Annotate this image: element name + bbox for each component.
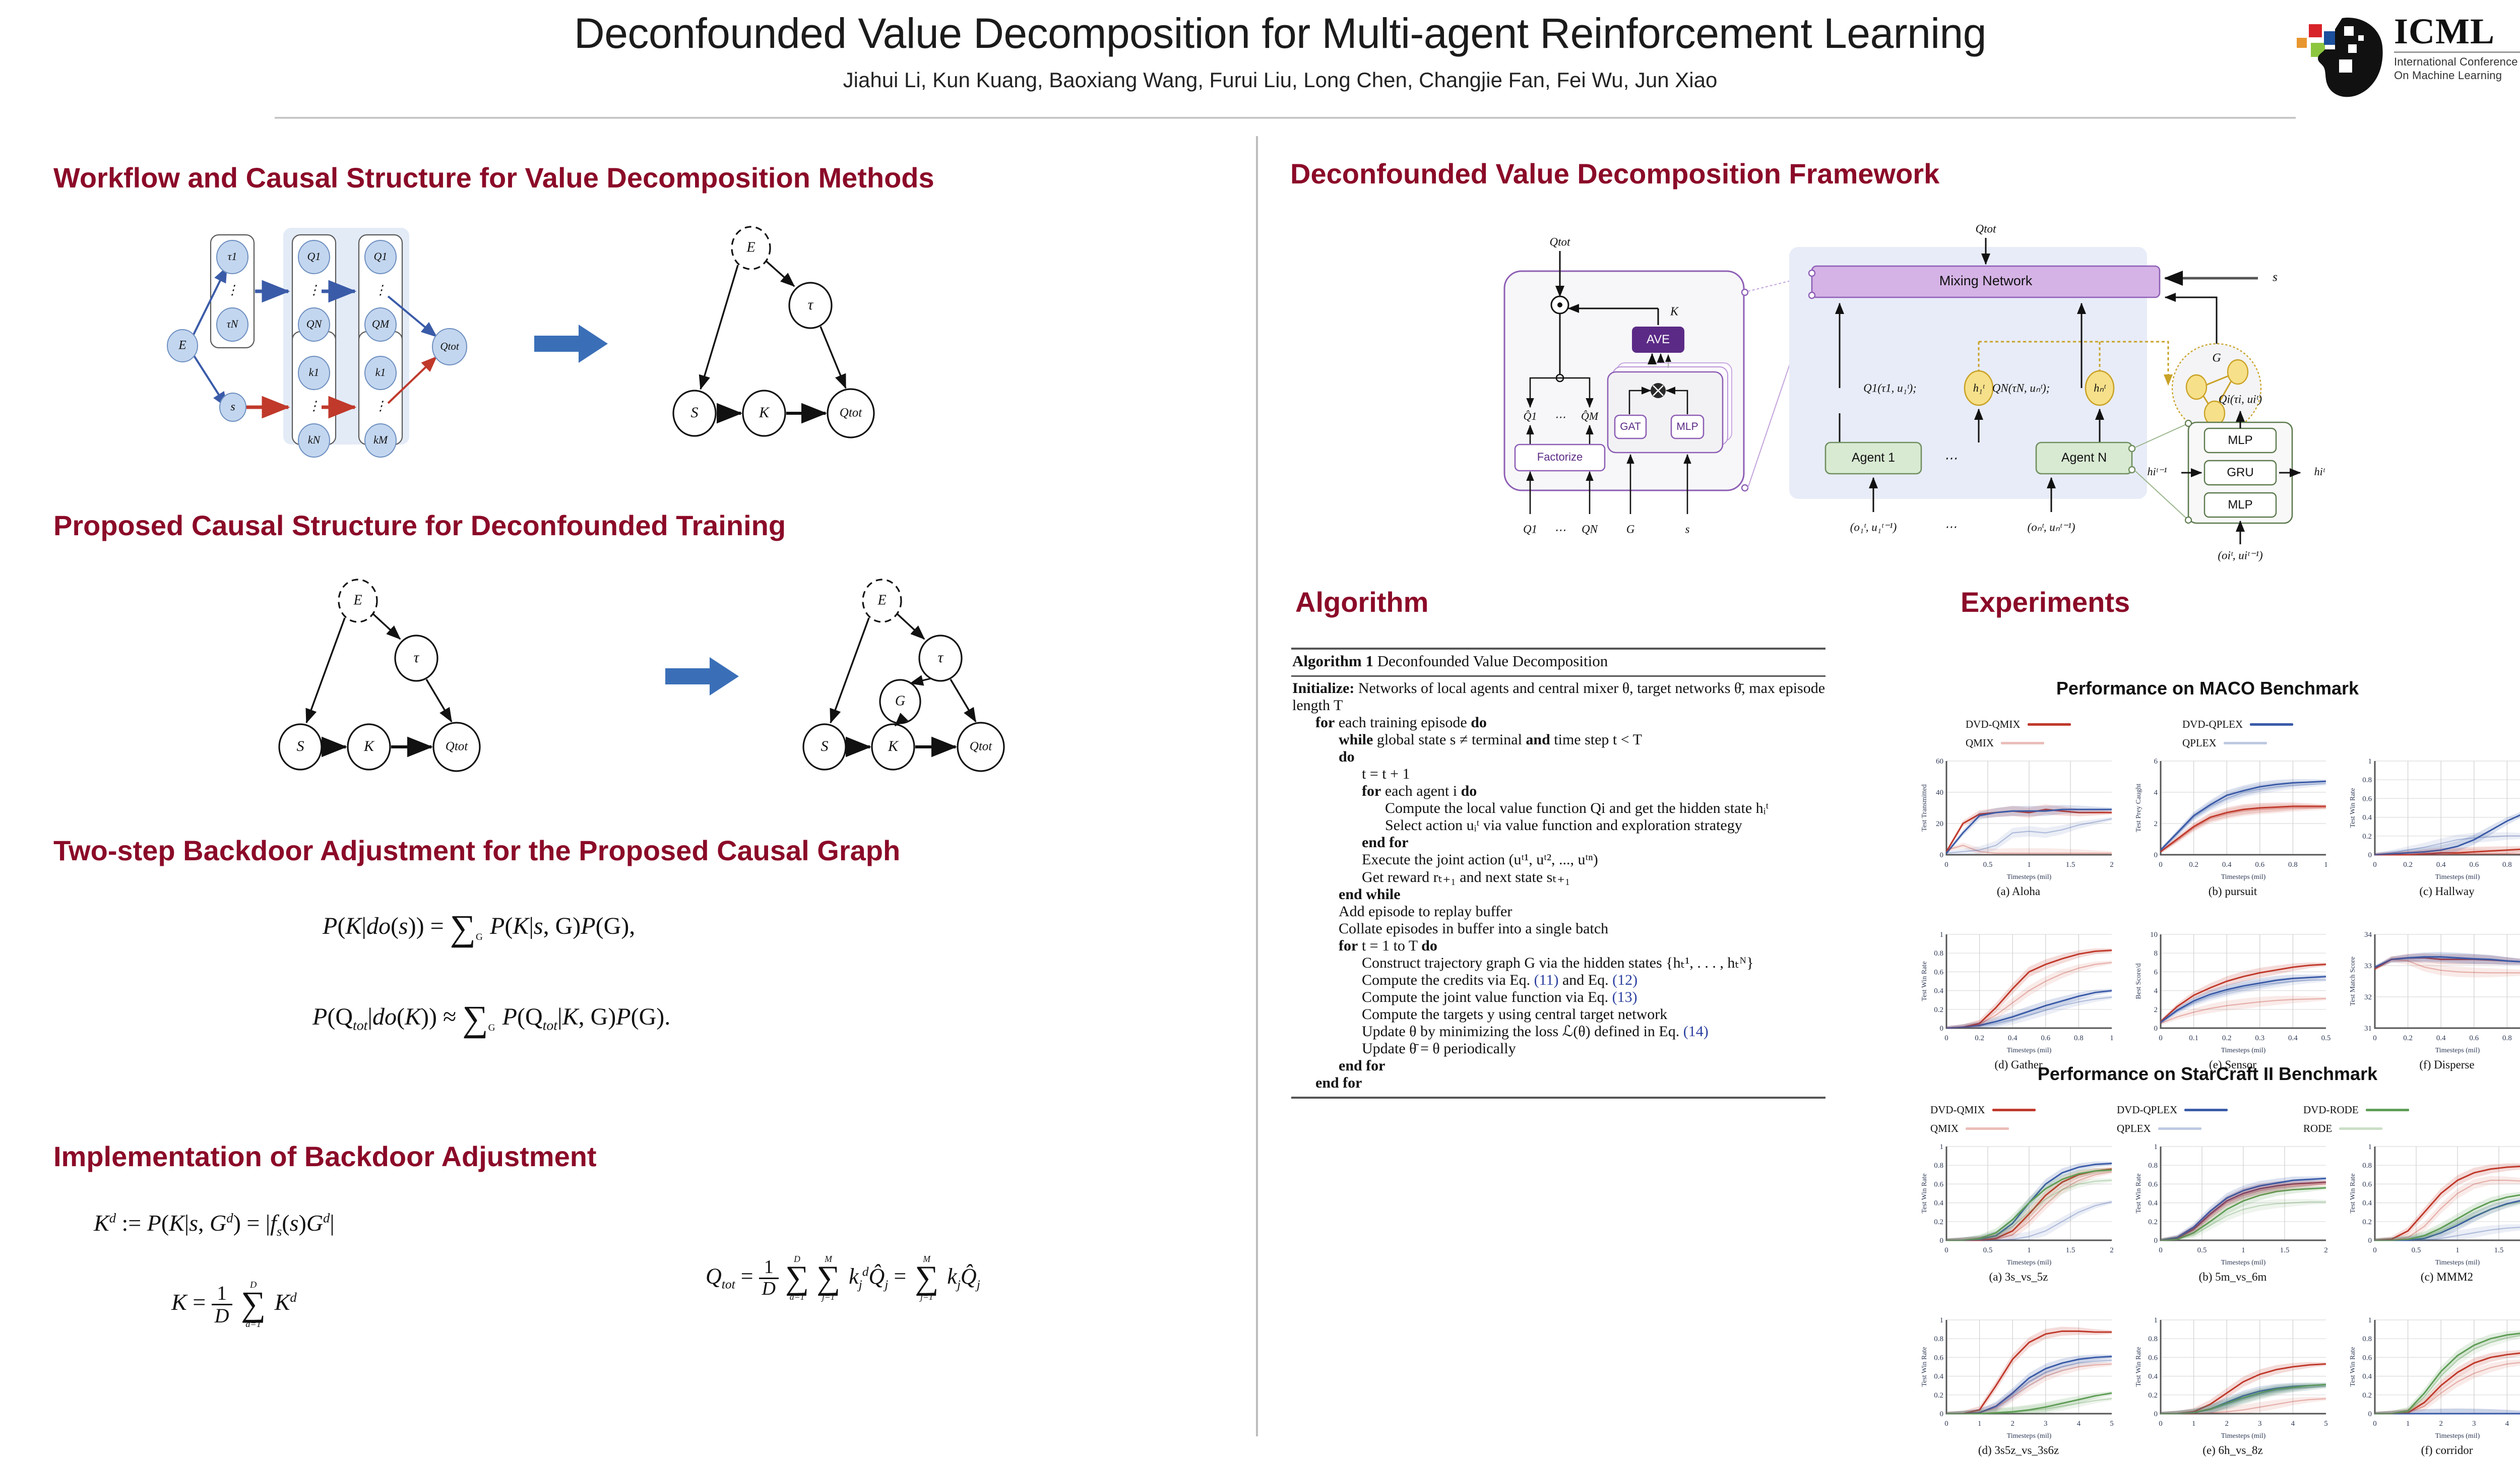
- svg-text:0.4: 0.4: [2436, 1034, 2446, 1042]
- legend-swatch: [2366, 1109, 2409, 1111]
- framework-right-panel: Qtot Mixing Network s G: [1789, 222, 2325, 561]
- block-agent-last: Agent N: [2061, 451, 2107, 465]
- chart-title-sc2: Performance on StarCraft II Benchmark: [1930, 1063, 2485, 1085]
- node-label-S-left: S: [297, 738, 304, 754]
- svg-text:0.4: 0.4: [2436, 861, 2446, 869]
- label-agent-dots: ⋯: [1944, 451, 1957, 466]
- node-label-G-right: G: [895, 693, 905, 709]
- svg-text:0.6: 0.6: [2148, 1354, 2158, 1362]
- legend-swatch: [2250, 723, 2293, 726]
- algorithm-line: Update θ̄ = θ periodically: [1292, 1040, 1825, 1057]
- chart-panel-caption: (b) pursuit: [2134, 885, 2331, 898]
- node-label-E-right2: E: [877, 592, 886, 608]
- algorithm-line: end for: [1292, 834, 1825, 851]
- svg-text:0.6: 0.6: [1934, 968, 1943, 976]
- block-mlp-left: MLP: [1676, 421, 1698, 432]
- svg-text:1.5: 1.5: [2066, 1246, 2075, 1254]
- implementation-equation-3: Qtot = 1D D∑d=1 M∑j=1 kjdQ̂j = M∑j=1 kjQ…: [706, 1255, 980, 1302]
- legend-item: QPLEX: [2182, 737, 2399, 749]
- legend-item: QMIX: [1966, 737, 2182, 749]
- svg-text:0: 0: [2154, 1025, 2158, 1033]
- svg-text:0.2: 0.2: [1934, 1391, 1943, 1400]
- algorithm-line: for t = 1 to T do: [1292, 937, 1825, 955]
- svg-text:0.2: 0.2: [2362, 1391, 2372, 1400]
- algorithm-line: Construct trajectory graph G via the hid…: [1292, 955, 1825, 972]
- chart-panel: 00.20.40.60.8100.20.40.60.81Test Win Rat…: [2349, 756, 2520, 882]
- svg-text:⋮: ⋮: [374, 283, 387, 297]
- chart-title-maco: Performance on MACO Benchmark: [1930, 678, 2485, 699]
- svg-text:1.5: 1.5: [2066, 861, 2075, 869]
- svg-text:4: 4: [2154, 987, 2158, 995]
- svg-text:0.4: 0.4: [2362, 1199, 2372, 1208]
- algorithm-line: Compute the local value function Qi and …: [1292, 800, 1825, 817]
- algorithm-line: end for: [1292, 1057, 1825, 1074]
- node-label-tau-right: τ: [808, 296, 814, 313]
- algorithm-rule-bottom: [1291, 1097, 1825, 1099]
- svg-text:3: 3: [2472, 1420, 2476, 1428]
- svg-text:3: 3: [2258, 1420, 2262, 1428]
- svg-text:0.8: 0.8: [2362, 1335, 2372, 1343]
- svg-text:1: 1: [2027, 861, 2031, 869]
- label-qhat-dots: ⋯: [1554, 411, 1565, 423]
- input-label-Q1: Q1: [1523, 523, 1537, 535]
- node-label-Qtot: Qtot: [440, 340, 460, 352]
- svg-text:1: 1: [2368, 757, 2372, 766]
- algorithm-line: Collate episodes in buffer into a single…: [1292, 920, 1825, 937]
- svg-text:Timesteps (mil): Timesteps (mil): [2007, 1432, 2052, 1440]
- svg-text:0.8: 0.8: [2362, 776, 2372, 784]
- svg-text:5: 5: [2324, 1420, 2328, 1428]
- svg-text:Test Win Rate: Test Win Rate: [2349, 788, 2357, 828]
- legend-label: DVD-QPLEX: [2182, 718, 2243, 731]
- icml-wordmark: ICML International Conference On Machine…: [2394, 14, 2520, 83]
- svg-text:1: 1: [2027, 1246, 2031, 1254]
- svg-text:0.5: 0.5: [2197, 1246, 2207, 1254]
- backdoor-equation-1: P(K|do(s)) = ∑G P(K|s, G)P(G),: [323, 912, 635, 944]
- section-heading-framework: Deconfounded Value Decomposition Framewo…: [1290, 157, 1939, 190]
- label-qtot-left: Qtot: [1550, 235, 1571, 248]
- svg-text:0.4: 0.4: [2148, 1199, 2158, 1208]
- svg-text:0: 0: [2368, 1410, 2372, 1418]
- algorithm-line: end for: [1292, 1074, 1825, 1092]
- framework-left-panel: Qtot K AVE G: [1504, 235, 1748, 536]
- legend-label: DVD-QPLEX: [2117, 1104, 2177, 1116]
- svg-text:0.8: 0.8: [1934, 949, 1943, 958]
- svg-text:0.8: 0.8: [1934, 1162, 1943, 1170]
- svg-text:5: 5: [2110, 1420, 2114, 1428]
- svg-text:0.2: 0.2: [2222, 1034, 2232, 1042]
- svg-text:0: 0: [1944, 1034, 1948, 1042]
- svg-text:6: 6: [2154, 968, 2158, 976]
- algorithm-line: Update θ by minimizing the loss ℒ(θ) def…: [1292, 1023, 1825, 1040]
- legend-item: QPLEX: [2117, 1122, 2303, 1135]
- svg-text:0.5: 0.5: [2412, 1246, 2421, 1254]
- proposed-graph-left: E τ S K Qtot: [279, 580, 480, 771]
- svg-text:0.5: 0.5: [1983, 1246, 1993, 1254]
- legend-swatch: [1966, 1127, 2009, 1130]
- svg-text:0: 0: [1944, 861, 1948, 869]
- block-mlp-bottom: MLP: [2228, 498, 2252, 512]
- label-q-first: Q1(τ1, u₁ᵗ);: [1863, 382, 1917, 394]
- chart-panel: 00.20.40.60.81012345Test Win RateTimeste…: [2349, 1315, 2520, 1441]
- svg-text:⋮: ⋮: [226, 283, 239, 297]
- svg-text:0.2: 0.2: [1934, 1218, 1943, 1226]
- node-label-kN: kN: [308, 433, 321, 446]
- svg-text:0.4: 0.4: [2362, 814, 2372, 822]
- svg-text:2: 2: [2154, 1006, 2158, 1014]
- section-heading-experiments: Experiments: [1961, 586, 2130, 618]
- header-divider: [275, 117, 2296, 119]
- svg-text:1: 1: [2324, 861, 2328, 869]
- svg-text:1: 1: [2154, 1143, 2158, 1151]
- svg-text:1: 1: [1978, 1420, 1982, 1428]
- algorithm-line: Get reward rₜ₊₁ and next state sₜ₊₁: [1292, 869, 1825, 886]
- legend-swatch: [2184, 1109, 2228, 1111]
- svg-text:0.6: 0.6: [2469, 1034, 2479, 1042]
- label-obs-last: (oₙᵗ, uₙᵗ⁻¹): [2028, 521, 2075, 533]
- svg-text:1: 1: [1940, 931, 1944, 939]
- svg-text:0.4: 0.4: [1934, 1199, 1943, 1208]
- legend-label: DVD-QMIX: [1966, 718, 2021, 731]
- svg-text:1: 1: [1940, 1316, 1944, 1324]
- svg-text:1: 1: [2368, 1143, 2372, 1151]
- label-obs-dots: ⋯: [1944, 521, 1957, 534]
- proposed-causal-diagram: E τ S K Qtot E: [282, 575, 1169, 776]
- svg-text:0: 0: [1944, 1420, 1948, 1428]
- chart-panel-caption: (c) Hallway: [2349, 885, 2520, 898]
- chart-panels-maco: 020406000.511.52Test TransmittedTimestep…: [1920, 756, 2520, 1068]
- input-label-s: s: [1685, 523, 1690, 535]
- svg-text:0.8: 0.8: [2502, 861, 2512, 869]
- svg-text:0.8: 0.8: [2148, 1162, 2158, 1170]
- node-label-E: E: [178, 339, 186, 352]
- label-agent-q-out: Qi(τi, uiᵗ): [2219, 393, 2262, 405]
- svg-text:Timesteps (mil): Timesteps (mil): [2435, 1259, 2480, 1266]
- block-ave: AVE: [1647, 333, 1670, 346]
- algorithm-line: for each agent i do: [1292, 783, 1825, 800]
- svg-text:0: 0: [2159, 1420, 2163, 1428]
- legend-swatch: [2001, 742, 2044, 744]
- svg-text:Test Win Rate: Test Win Rate: [1921, 961, 1928, 1001]
- legend-swatch: [2224, 742, 2267, 744]
- node-label-tau1: τ1: [228, 250, 237, 263]
- svg-text:Timesteps (mil): Timesteps (mil): [2007, 1259, 2052, 1266]
- svg-text:0.6: 0.6: [2469, 861, 2479, 869]
- node-label-Qtot-right: Qtot: [840, 406, 863, 420]
- block-mixing-network: Mixing Network: [1939, 273, 2033, 288]
- svg-text:Test Prey Caught: Test Prey Caught: [2135, 784, 2143, 832]
- svg-text:Test Win Rate: Test Win Rate: [2349, 1347, 2357, 1386]
- svg-text:Timesteps (mil): Timesteps (mil): [2435, 1047, 2480, 1054]
- section-heading-proposed: Proposed Causal Structure for Deconfound…: [53, 509, 786, 542]
- legend-label: DVD-RODE: [2303, 1104, 2359, 1116]
- svg-text:0: 0: [2373, 861, 2377, 869]
- section-heading-implementation: Implementation of Backdoor Adjustment: [53, 1140, 597, 1173]
- node-label-K-left: K: [363, 738, 375, 754]
- node-label-K-right2: K: [888, 738, 899, 754]
- node-label-s: s: [230, 401, 235, 414]
- node-label-QM: QM: [372, 318, 390, 330]
- input-label-QN: QN: [1582, 523, 1599, 535]
- legend-label: QPLEX: [2182, 737, 2217, 749]
- chart-panel: 00.20.40.60.8100.511.52Test Win RateTime…: [2134, 1142, 2331, 1268]
- implementation-equation-1: Kd := P(K|s, Gd) = |fs(s)Gd|: [94, 1210, 335, 1239]
- svg-text:Timesteps (mil): Timesteps (mil): [2435, 1432, 2480, 1440]
- legend-item: DVD-RODE: [2303, 1104, 2490, 1116]
- label-q-last: QN(τN, uₙᵗ);: [1992, 382, 2050, 394]
- label-qtot-right: Qtot: [1976, 222, 1997, 235]
- chart-panel: 020406000.511.52Test TransmittedTimestep…: [1920, 756, 2117, 882]
- label-h-in: hiᵗ⁻¹: [2147, 465, 2167, 478]
- legend-item: QMIX: [1930, 1122, 2117, 1135]
- svg-text:0.6: 0.6: [2362, 1354, 2372, 1362]
- label-state-input: s: [2273, 271, 2278, 284]
- legend-label: DVD-QMIX: [1930, 1104, 1985, 1116]
- svg-text:0.2: 0.2: [2189, 861, 2198, 869]
- svg-text:0: 0: [1944, 1246, 1948, 1254]
- node-label-S-right2: S: [821, 738, 829, 754]
- transition-arrow-icon-2: [665, 657, 739, 695]
- svg-text:Test Transmitted: Test Transmitted: [1921, 784, 1928, 832]
- svg-text:0.6: 0.6: [2362, 1180, 2372, 1188]
- svg-text:0: 0: [2368, 851, 2372, 859]
- svg-text:0.4: 0.4: [2362, 1373, 2372, 1381]
- chart-legend-sc2: DVD-QMIXDVD-QPLEXDVD-RODEQMIXQPLEXRODE: [1930, 1104, 2505, 1141]
- svg-text:1: 1: [2192, 1420, 2196, 1428]
- algorithm-line: do: [1292, 748, 1825, 766]
- svg-text:Test Win Rate: Test Win Rate: [1921, 1173, 1928, 1213]
- node-label-k1b: k1: [375, 366, 386, 378]
- legend-item: DVD-QMIX: [1966, 718, 2182, 731]
- svg-text:0: 0: [1940, 1025, 1944, 1033]
- svg-text:2: 2: [2110, 1246, 2114, 1254]
- svg-text:0: 0: [2368, 1237, 2372, 1245]
- legend-label: QMIX: [1930, 1122, 1959, 1135]
- page-title: Deconfounded Value Decomposition for Mul…: [282, 9, 2278, 58]
- svg-text:10: 10: [2150, 931, 2158, 939]
- algorithm-line: Add episode to replay buffer: [1292, 903, 1825, 920]
- svg-text:0.2: 0.2: [2148, 1391, 2158, 1400]
- chart-panel-caption: (f) corridor: [2349, 1444, 2520, 1457]
- svg-text:0.4: 0.4: [2148, 1373, 2158, 1381]
- chart-panel: 024681000.10.20.30.40.5Best Score/dTimes…: [2134, 929, 2331, 1055]
- svg-text:0.3: 0.3: [2255, 1034, 2264, 1042]
- node-label-E-left: E: [353, 592, 362, 608]
- svg-text:0: 0: [2154, 1410, 2158, 1418]
- svg-text:8: 8: [2154, 949, 2158, 958]
- svg-text:0.4: 0.4: [2288, 1034, 2298, 1042]
- svg-text:2: 2: [2154, 820, 2158, 828]
- svg-text:0.6: 0.6: [1934, 1180, 1943, 1188]
- block-gru: GRU: [2227, 466, 2253, 479]
- svg-text:0: 0: [2373, 1246, 2377, 1254]
- svg-text:6: 6: [2154, 757, 2158, 766]
- svg-text:34: 34: [2364, 931, 2372, 939]
- svg-text:0.4: 0.4: [1934, 987, 1943, 995]
- label-h-last: hₙᵗ: [2094, 382, 2106, 394]
- svg-text:4: 4: [2505, 1420, 2509, 1428]
- svg-text:0.2: 0.2: [2362, 1218, 2372, 1226]
- svg-text:20: 20: [1936, 820, 1943, 828]
- input-label-dots: ⋯: [1554, 524, 1566, 536]
- svg-text:60: 60: [1936, 757, 1943, 766]
- svg-text:0.8: 0.8: [2288, 861, 2298, 869]
- svg-text:1: 1: [2154, 1316, 2158, 1324]
- label-qhat-first: Q̂1: [1524, 410, 1537, 422]
- author-list: Jiahui Li, Kun Kuang, Baoxiang Wang, Fur…: [282, 68, 2278, 92]
- icml-acronym: ICML: [2394, 14, 2520, 48]
- algorithm-title: Algorithm 1 Deconfounded Value Decomposi…: [1291, 650, 1825, 673]
- algorithm-name: Deconfounded Value Decomposition: [1373, 652, 1608, 670]
- svg-text:0.4: 0.4: [2222, 861, 2232, 869]
- chart-panel: 00.20.40.60.81012345Test Win RateTimeste…: [2134, 1315, 2331, 1441]
- label-h-out: hiᵗ: [2314, 465, 2325, 478]
- node-label-K-right: K: [759, 404, 770, 421]
- node-label-k1: k1: [309, 366, 320, 378]
- svg-text:Timesteps (mil): Timesteps (mil): [2221, 1047, 2266, 1054]
- proposed-graph-right: E τ G S K Qtot: [803, 580, 1004, 771]
- svg-text:0: 0: [1940, 1410, 1944, 1418]
- svg-text:0.4: 0.4: [1934, 1373, 1943, 1381]
- svg-text:0.2: 0.2: [2403, 1034, 2413, 1042]
- svg-text:4: 4: [2291, 1420, 2295, 1428]
- legend-item: DVD-QMIX: [1930, 1104, 2117, 1116]
- algorithm-line: Execute the joint action (uᵗ¹, uᵗ², ...,…: [1292, 851, 1825, 868]
- svg-text:Test Win Rate: Test Win Rate: [2135, 1173, 2143, 1213]
- legend-swatch: [1992, 1109, 2036, 1111]
- implementation-equation-2: K = 1D D∑d=1 Kd: [171, 1280, 297, 1329]
- svg-text:2: 2: [2439, 1420, 2443, 1428]
- svg-text:0: 0: [2373, 1420, 2377, 1428]
- label-h-first: h₁ᵗ: [1973, 382, 1985, 394]
- svg-text:1: 1: [2368, 1316, 2372, 1324]
- svg-text:0: 0: [2159, 1034, 2163, 1042]
- label-graph-G: G: [2212, 352, 2221, 365]
- legend-swatch: [2028, 723, 2071, 726]
- svg-text:4: 4: [2154, 789, 2158, 797]
- svg-text:Best Score/d: Best Score/d: [2135, 963, 2143, 999]
- node-label-E-right: E: [746, 239, 755, 255]
- svg-text:3: 3: [2044, 1420, 2048, 1428]
- algorithm-line: while global state s ≠ terminal and time…: [1292, 731, 1825, 748]
- algorithm-line: Select action uᵢᵗ via value function and…: [1292, 817, 1825, 834]
- legend-item: RODE: [2303, 1122, 2490, 1135]
- chart-panel-caption: (a) Aloha: [1920, 885, 2117, 898]
- svg-text:1: 1: [2455, 1246, 2460, 1254]
- block-factorize: Factorize: [1537, 451, 1583, 463]
- label-agent-obs-in: (oiᵗ, uiᵗ⁻¹): [2218, 549, 2262, 561]
- svg-text:0: 0: [2159, 861, 2163, 869]
- transition-arrow-icon: [534, 325, 608, 363]
- poster-header: Deconfounded Value Decomposition for Mul…: [0, 0, 2520, 127]
- svg-text:0.8: 0.8: [1934, 1335, 1943, 1343]
- backdoor-equation-2: P(Qtot|do(K)) ≈ ∑G P(Qtot|K, G)P(G).: [312, 1003, 670, 1035]
- poster-root: Deconfounded Value Decomposition for Mul…: [0, 0, 2520, 1451]
- node-label-Q1: Q1: [307, 250, 321, 263]
- svg-text:0.8: 0.8: [2362, 1162, 2372, 1170]
- svg-text:0.6: 0.6: [1934, 1354, 1943, 1362]
- svg-text:0.4: 0.4: [2008, 1034, 2018, 1042]
- svg-text:0: 0: [2159, 1246, 2163, 1254]
- svg-text:Test Win Rate: Test Win Rate: [1921, 1347, 1928, 1386]
- svg-text:Test Win Rate: Test Win Rate: [2135, 1347, 2143, 1386]
- node-label-Q1b: Q1: [374, 250, 388, 263]
- svg-text:0.2: 0.2: [1975, 1034, 1984, 1042]
- chart-panel-caption: (b) 5m_vs_6m: [2134, 1271, 2331, 1284]
- svg-text:40: 40: [1936, 789, 1943, 797]
- legend-label: QMIX: [1966, 737, 1994, 749]
- svg-text:0.6: 0.6: [2255, 861, 2264, 869]
- chart-panel: 00.20.40.60.8100.20.40.60.81Test Win Rat…: [1920, 929, 2117, 1055]
- legend-label: RODE: [2303, 1122, 2332, 1135]
- svg-text:0: 0: [2154, 851, 2158, 859]
- icml-head-icon: [2296, 15, 2389, 98]
- svg-text:⋮: ⋮: [307, 399, 321, 413]
- svg-text:Timesteps (mil): Timesteps (mil): [2007, 1047, 2052, 1054]
- svg-text:4: 4: [2077, 1420, 2081, 1428]
- svg-text:1: 1: [1940, 1143, 1944, 1151]
- svg-text:31: 31: [2364, 1025, 2372, 1033]
- chart-panels-sc2: 00.20.40.60.8100.511.52Test Win RateTime…: [1920, 1142, 2520, 1454]
- section-heading-backdoor: Two-step Backdoor Adjustment for the Pro…: [53, 834, 900, 867]
- svg-text:0.2: 0.2: [1934, 1006, 1943, 1014]
- algorithm-line: Compute the joint value function via Eq.…: [1292, 989, 1825, 1006]
- svg-text:0: 0: [2154, 1237, 2158, 1245]
- svg-text:1: 1: [2241, 1246, 2245, 1254]
- icml-subtitle-2: On Machine Learning: [2394, 69, 2520, 83]
- chart-panel: 00.20.40.60.8100.511.52Test Win RateTime…: [2349, 1142, 2520, 1268]
- svg-text:Timesteps (mil): Timesteps (mil): [2007, 873, 2052, 881]
- svg-text:Timesteps (mil): Timesteps (mil): [2221, 1432, 2266, 1440]
- label-k-left: K: [1670, 305, 1679, 319]
- svg-text:0.1: 0.1: [2189, 1034, 2198, 1042]
- section-heading-workflow: Workflow and Causal Structure for Value …: [53, 161, 934, 194]
- label-qhat-last: Q̂M: [1581, 410, 1599, 422]
- svg-text:1: 1: [2406, 1420, 2410, 1428]
- node-label-kM: kM: [373, 433, 389, 446]
- svg-text:0.6: 0.6: [2041, 1034, 2050, 1042]
- svg-text:32: 32: [2364, 993, 2372, 1001]
- svg-text:0.8: 0.8: [2502, 1034, 2512, 1042]
- svg-text:0: 0: [1940, 1237, 1944, 1245]
- svg-text:2: 2: [2010, 1420, 2014, 1428]
- framework-diagram: Qtot K AVE G: [1487, 212, 2520, 559]
- icml-logo: ICML International Conference On Machine…: [2296, 11, 2520, 102]
- chart-panel: 024600.20.40.60.81Test Prey CaughtTimest…: [2134, 756, 2331, 882]
- node-label-Qtot-left: Qtot: [446, 740, 469, 753]
- algorithm-line: Compute the credits via Eq. (11) and Eq.…: [1292, 972, 1825, 989]
- chart-panel-caption: (e) 6h_vs_8z: [2134, 1444, 2331, 1457]
- node-label-tau-right2: τ: [938, 649, 944, 666]
- svg-text:0.6: 0.6: [2148, 1180, 2158, 1188]
- algorithm-line: Compute the targets y using central targ…: [1292, 1006, 1825, 1023]
- legend-swatch: [2339, 1127, 2382, 1130]
- node-label-S-right: S: [691, 404, 699, 421]
- icml-subtitle-1: International Conference: [2394, 55, 2520, 69]
- block-mlp-top: MLP: [2228, 433, 2252, 447]
- icml-rule: [2394, 51, 2520, 53]
- algorithm-line: t = t + 1: [1292, 766, 1825, 783]
- svg-text:0.2: 0.2: [2403, 861, 2413, 869]
- svg-text:Test Win Rate: Test Win Rate: [2349, 1173, 2357, 1213]
- block-agent-first: Agent 1: [1852, 451, 1895, 465]
- chart-panel: 3132333400.20.40.60.81Test Match ScoreTi…: [2349, 929, 2520, 1055]
- svg-text:1.5: 1.5: [2494, 1246, 2504, 1254]
- svg-text:0.8: 0.8: [2074, 1034, 2084, 1042]
- svg-text:0.5: 0.5: [2321, 1034, 2331, 1042]
- svg-text:2: 2: [2110, 861, 2114, 869]
- svg-text:2: 2: [2324, 1246, 2328, 1254]
